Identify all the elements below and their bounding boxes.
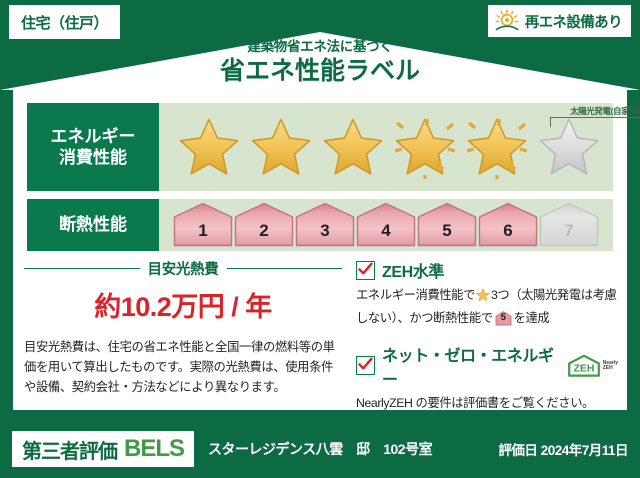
claim-net-zero-head: ネット・ゼロ・エネルギー ZEH Nearly ZEH: [356, 342, 618, 390]
zeh-logo-subtext: Nearly ZEH: [603, 361, 618, 372]
renewable-badge-text: 再エネ設備あり: [525, 11, 622, 32]
claim-zeh-standard-body: エネルギー消費性能で3つ（太陽光発電は考慮しない）、かつ断熱性能で5を達成: [356, 286, 618, 329]
checkbox-checked-icon: [356, 356, 375, 375]
evaluation-date: 評価日 2024年7月11日: [498, 439, 628, 459]
claim-net-zero-body: NearlyZEH の要件は評価書をご覧ください。: [356, 394, 618, 414]
insulation-performance-value: 1234567: [159, 199, 613, 251]
mini-house-level: 5: [495, 311, 512, 326]
insulation-level-number: 6: [478, 221, 538, 241]
energy-performance-key: エネルギー 消費性能: [27, 103, 159, 191]
claim-zeh-standard: ZEH水準 エネルギー消費性能で3つ（太陽光発電は考慮しない）、かつ断熱性能で5…: [356, 258, 618, 329]
insulation-level-number: 2: [234, 221, 294, 241]
energy-label-line2: 消費性能: [59, 147, 127, 168]
sun-icon: [494, 9, 520, 33]
bels-en-text: BELS: [124, 435, 184, 463]
building-type-text: 住宅（住戸）: [21, 12, 108, 33]
building-type-badge: 住宅（住戸）: [9, 5, 120, 39]
star-6-empty: [533, 107, 605, 187]
utility-cost-block: 目安光熱費 約10.2万円 / 年 目安光熱費は、住宅の省エネ性能と全国一律の燃…: [24, 258, 342, 398]
bels-logo: 第三者評価 BELS: [12, 431, 194, 467]
star-2-filled: [245, 107, 317, 187]
title-main: 省エネ性能ラベル: [0, 57, 640, 86]
claim-net-zero-energy: ネット・ゼロ・エネルギー ZEH Nearly ZEH NearlyZEH の要…: [356, 342, 618, 414]
star-1-filled: [173, 107, 245, 187]
rule-left: [24, 268, 140, 269]
insulation-level-2-active: 2: [234, 202, 294, 247]
energy-performance-label: 住宅（住戸） 再エネ設備あり 建築物省エネ法: [0, 0, 640, 478]
claim-body-pre: エネルギー消費性能で: [356, 288, 475, 302]
insulation-performance-key: 断熱性能: [27, 199, 159, 251]
star-4-filled: [389, 107, 461, 187]
energy-performance-row: エネルギー 消費性能 太陽光発電(自家消費)分: [27, 103, 613, 191]
star-5-filled: [461, 107, 533, 187]
svg-text:ZEH: ZEH: [573, 362, 594, 374]
star-3-filled: [317, 107, 389, 187]
rule-right: [227, 268, 343, 269]
utility-cost-note: 目安光熱費は、住宅の省エネ性能と全国一律の燃料等の単価を用いて算出したものです。…: [24, 338, 342, 398]
mini-house-badge: 5: [495, 311, 512, 326]
bels-jp-text: 第三者評価: [22, 435, 117, 464]
insulation-level-7-inactive: 7: [539, 202, 599, 247]
insulation-level-3-active: 3: [295, 202, 355, 247]
utility-cost-label: 目安光熱費: [148, 258, 219, 279]
claim-net-zero-title: ネット・ゼロ・エネルギー: [382, 342, 555, 390]
mini-star-icon: [476, 288, 490, 309]
claim-zeh-standard-head: ZEH水準: [356, 258, 618, 282]
property-name: スターレジデンス八雲 邸 102号室: [208, 439, 432, 459]
energy-performance-value: 太陽光発電(自家消費)分: [159, 103, 613, 191]
insulation-label: 断熱性能: [59, 214, 127, 235]
renewable-equipment-badge: 再エネ設備あり: [488, 5, 631, 37]
title-subtitle: 建築物省エネ法に基づく: [0, 40, 640, 54]
insulation-level-number: 5: [417, 221, 477, 241]
insulation-level-4-active: 4: [356, 202, 416, 247]
insulation-level-number: 3: [295, 221, 355, 241]
insulation-level-1-active: 1: [173, 202, 233, 247]
insulation-level-number: 1: [173, 221, 233, 241]
insulation-level-scale: 1234567: [173, 202, 599, 247]
utility-cost-heading: 目安光熱費: [24, 258, 342, 279]
footer-bar: 第三者評価 BELS スターレジデンス八雲 邸 102号室 評価日 2024年7…: [0, 420, 640, 478]
insulation-level-5-active: 5: [417, 202, 477, 247]
claim-body-post: を達成: [514, 311, 550, 325]
insulation-level-number: 7: [539, 221, 599, 241]
zeh-logo-icon: ZEH Nearly ZEH: [567, 354, 618, 378]
insulation-performance-row: 断熱性能 1234567: [27, 199, 613, 251]
claim-zeh-standard-title: ZEH水準: [382, 258, 444, 282]
star-rating: [173, 107, 605, 187]
utility-cost-amount: 約10.2万円 / 年: [24, 285, 342, 324]
zeh-sub-line2: ZEH: [603, 365, 613, 371]
insulation-level-number: 4: [356, 221, 416, 241]
certification-claims: ZEH水準 エネルギー消費性能で3つ（太陽光発電は考慮しない）、かつ断熱性能で5…: [356, 258, 618, 416]
checkbox-checked-icon: [356, 261, 375, 280]
insulation-level-6-active: 6: [478, 202, 538, 247]
title-block: 建築物省エネ法に基づく 省エネ性能ラベル: [0, 40, 640, 85]
energy-label-line1: エネルギー: [51, 126, 136, 147]
